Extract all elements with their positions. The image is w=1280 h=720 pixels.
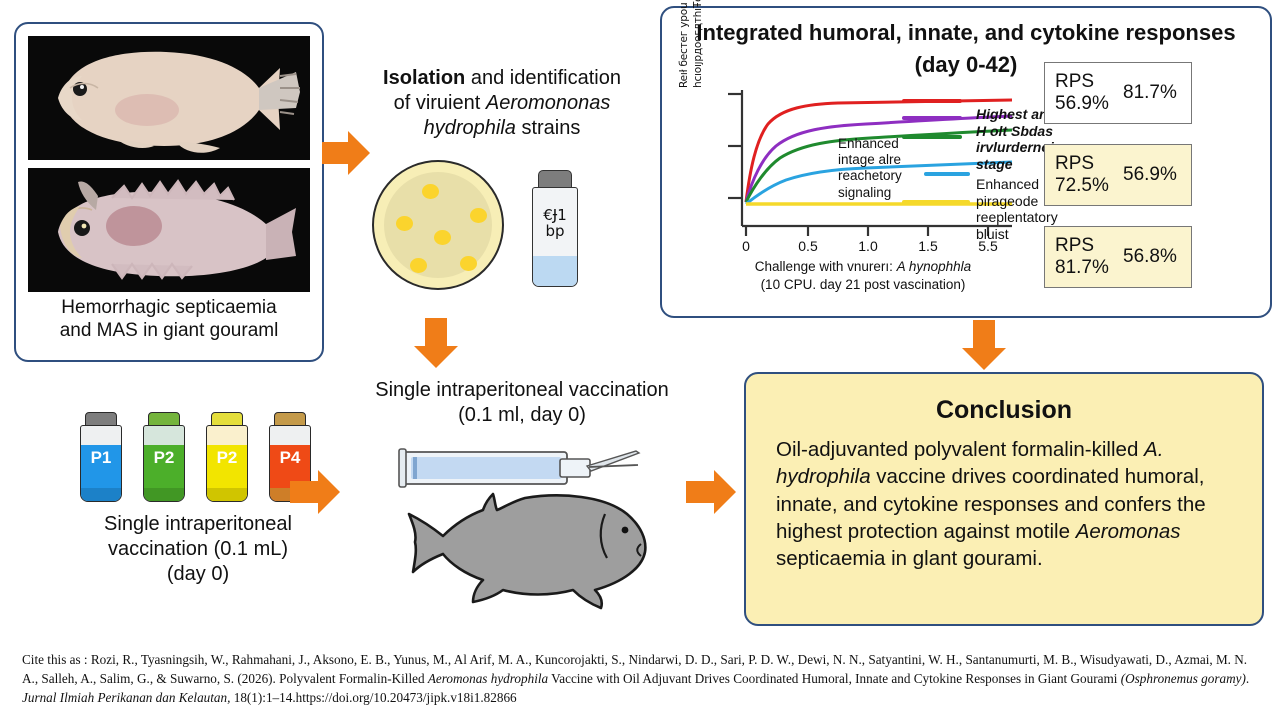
- conclusion-panel: Conclusion Oil-adjuvanted polyvalent for…: [744, 372, 1264, 626]
- vial-label-p4: P4: [267, 448, 313, 468]
- isolation-line2-pre: of viruient: [394, 92, 486, 114]
- rps-value1-2: 72.5%: [1055, 175, 1109, 197]
- xtick-1: 0.5: [791, 238, 825, 254]
- vial-label-p2b: P2: [204, 448, 250, 468]
- legend-swatch-blue: [924, 172, 970, 176]
- rps-value2-2: 56.9%: [1123, 164, 1177, 186]
- diseased-fish-image-1: [28, 36, 310, 160]
- bacterial-colony: [460, 256, 477, 271]
- injection-line1: Single intraperitoneal vaccination: [352, 378, 692, 403]
- chart-panel: Integrated humoral, innate, and cytokine…: [660, 6, 1272, 318]
- vial-bp-line2: bp: [528, 224, 582, 240]
- conclusion-title: Conclusion: [746, 396, 1262, 425]
- legend-swatch-yellow: [902, 200, 970, 204]
- diseased-fish-image-2: [28, 168, 310, 292]
- isolation-line3-rest: strains: [516, 117, 580, 139]
- fish-silhouette-icon: [409, 494, 645, 608]
- rps-label-2: RPS: [1055, 153, 1094, 175]
- chart-xlabel-species: A hynophhla: [897, 259, 972, 274]
- bacterial-colony: [470, 208, 487, 223]
- rps-label-1: RPS: [1055, 71, 1094, 93]
- vial-label-p1: P1: [78, 448, 124, 468]
- arrow-chart-to-conclusion: [960, 320, 1012, 372]
- rps-box-3: RPS 81.7% 56.8%: [1044, 226, 1192, 288]
- legend-swatch-red: [902, 99, 962, 103]
- chart-ylabel-line2: hсıoıȷpдоогдтhıŦеxoппвіłту ıеoķетеıЄ: [692, 0, 712, 88]
- vial-liquid: [533, 256, 577, 286]
- injection-line2: (0.1 ml, day 0): [352, 403, 692, 428]
- xtick-2: 1.0: [851, 238, 885, 254]
- fish-caption-line2: and MAS in giant gouraml: [22, 319, 316, 342]
- citation-italic3: Jurnal Ilmiah Perikanan dan Kelautan,: [22, 690, 230, 705]
- rps-value1-1: 56.9%: [1055, 93, 1109, 115]
- xtick-3: 1.5: [911, 238, 945, 254]
- petri-agar: [384, 172, 492, 278]
- isolation-bold-word: Isolation: [383, 67, 465, 89]
- chart-xlabel-line2: (10 CPU. day 21 post vascination): [708, 276, 1018, 294]
- vaccine-vial-row: P1 P2 P2 P4: [78, 412, 318, 508]
- vial-label-p2a: P2: [141, 448, 187, 468]
- pcr-product-vial: €Ɉ1 bp: [528, 170, 582, 288]
- chart-title: Integrated humoral, innate, and cytokine…: [670, 20, 1262, 46]
- syringe-icon: [399, 449, 639, 487]
- conclusion-text-1: Oil-adjuvanted polyvalent formalin-kille…: [776, 438, 1144, 461]
- conclusion-species-2: Aeromonas: [1076, 520, 1181, 543]
- arrow-injection-to-conclusion: [686, 468, 742, 516]
- xtick-0: 0: [729, 238, 763, 254]
- conclusion-body: Oil-adjuvanted polyvalent formalin-kille…: [776, 436, 1240, 572]
- vial-caption-line3: (day 0): [48, 562, 348, 587]
- fish-photo-top: [28, 36, 310, 160]
- vial-bp-label: €Ɉ1 bp: [528, 208, 582, 240]
- isolation-line-1: Isolation and identification: [352, 66, 652, 91]
- citation-part3: .: [1246, 671, 1249, 686]
- bacterial-colony: [396, 216, 413, 231]
- bacterial-colony: [422, 184, 439, 199]
- vaccine-vial-p1: P1: [78, 412, 124, 504]
- fish-photo-panel: Hemorrhagic septicaemia and MAS in giant…: [14, 22, 324, 362]
- petri-dish: [372, 160, 504, 290]
- rps-label-3: RPS: [1055, 235, 1094, 257]
- legend-swatch-green: [902, 135, 962, 139]
- citation-text: Cite this as : Rozi, R., Tyasningsih, W.…: [22, 650, 1262, 707]
- rps-box-2: RPS 72.5% 56.9%: [1044, 144, 1192, 206]
- vaccine-vial-caption: Single intraperitoneal vaccination (0.1 …: [48, 512, 348, 587]
- rps-box-1: RPS 56.9% 81.7%: [1044, 62, 1192, 124]
- isolation-genus: Aeromononas: [486, 92, 611, 114]
- isolation-line-3: hydrophila strains: [352, 116, 652, 141]
- arrow-isolation-to-injection: [412, 318, 464, 370]
- citation-part2: Vaccine with Oil Adjuvant Drives Coordin…: [548, 671, 1121, 686]
- bacterial-colony: [434, 230, 451, 245]
- vial-caption-line2: vaccination (0.1 mL): [48, 537, 348, 562]
- chart-xlabel-line1: Challenge with vnurerı: A hynophhla: [708, 258, 1018, 276]
- chart-xlabel-pre: Challenge with vnurerı:: [755, 259, 897, 274]
- rps-value2-3: 56.8%: [1123, 246, 1177, 268]
- vaccine-vial-p2a: P2: [141, 412, 187, 504]
- bacterial-colony: [410, 258, 427, 273]
- injection-illustration: [355, 440, 685, 625]
- legend-swatch-purple: [902, 116, 962, 120]
- arrow-vials-to-injection: [290, 468, 346, 516]
- injection-text-block: Single intraperitoneal vaccination (0.1 …: [352, 378, 692, 428]
- citation-italic2: (Osphronemus goramy): [1121, 671, 1246, 686]
- fish-caption-line1: Hemorrhagic septicaemia: [22, 296, 316, 319]
- citation-italic1: Aeromonas hydrophila: [428, 671, 548, 686]
- chart-xlabel: Challenge with vnurerı: A hynophhla (10 …: [708, 258, 1018, 293]
- chart-annotation-left: Enhanced intage alre reachetory signalin…: [838, 136, 918, 201]
- isolation-line-2: of viruient Aeromononas: [352, 91, 652, 116]
- conclusion-text-3: septicaemia in glant gourami.: [776, 547, 1043, 570]
- rps-value2-1: 81.7%: [1123, 82, 1177, 104]
- fish-panel-caption: Hemorrhagic septicaemia and MAS in giant…: [22, 296, 316, 342]
- isolation-text-block: Isolation and identification of viruient…: [352, 66, 652, 141]
- fish-photo-bottom: [28, 168, 310, 292]
- citation-part4: 18(1):1–14.https://doi.org/10.20473/jipk…: [230, 690, 516, 705]
- rps-value1-3: 81.7%: [1055, 257, 1109, 279]
- vaccine-vial-p2b: P2: [204, 412, 250, 504]
- isolation-species: hydrophila: [424, 117, 516, 139]
- isolation-line1-rest: and identification: [465, 67, 621, 89]
